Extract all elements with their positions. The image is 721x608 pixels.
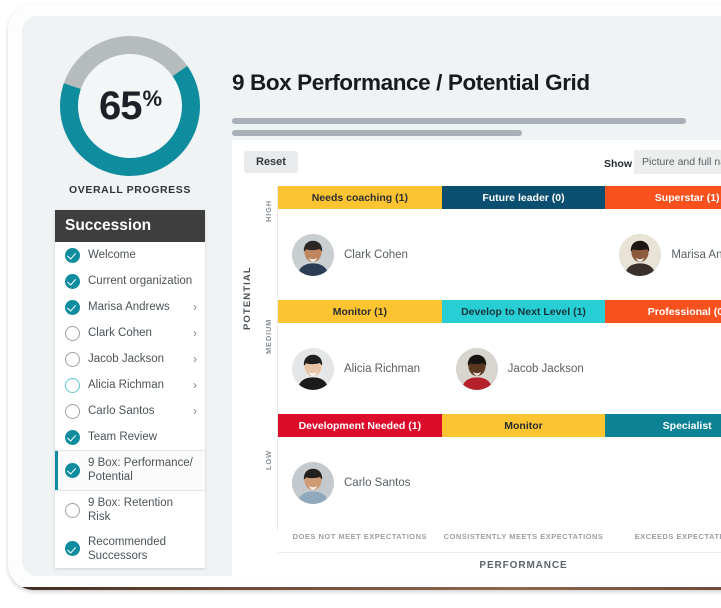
- chevron-right-icon[interactable]: ›: [193, 352, 197, 366]
- sidebar-item-team-review[interactable]: Team Review: [55, 424, 205, 450]
- tier-label-low: LOW: [264, 450, 273, 470]
- succession-title: Succession: [55, 210, 205, 242]
- progress-caption: OVERALL PROGRESS: [44, 184, 216, 196]
- person-name: Jacob Jackson: [508, 363, 584, 375]
- grid-cell-header[interactable]: Monitor (1): [278, 300, 442, 323]
- sidebar-item-label: Marisa Andrews: [88, 300, 189, 314]
- person-card[interactable]: Jacob Jackson: [456, 348, 584, 390]
- device-screen: 65% OVERALL PROGRESS Succession WelcomeC…: [22, 16, 721, 576]
- show-display-select[interactable]: Picture and full name: [634, 150, 721, 174]
- person-card[interactable]: Marisa Andrews: [619, 234, 721, 276]
- grid-cell-header[interactable]: Specialist: [605, 414, 721, 437]
- chevron-right-icon[interactable]: ›: [193, 404, 197, 418]
- grid-cell-header[interactable]: Future leader (0): [442, 186, 606, 209]
- grid-cell-header[interactable]: Develop to Next Level (1): [442, 300, 606, 323]
- grid-row-medium: Monitor (1)Develop to Next Level (1)Prof…: [278, 300, 721, 414]
- sidebar-item-marisa-andrews[interactable]: Marisa Andrews›: [55, 294, 205, 320]
- sidebar-item-label: Jacob Jackson: [88, 352, 189, 366]
- sidebar-item-carlo-santos[interactable]: Carlo Santos›: [55, 398, 205, 424]
- overall-progress-donut: 65%: [60, 36, 200, 176]
- performance-tick-0: DOES NOT MEET EXPECTATIONS: [278, 532, 442, 541]
- chevron-right-icon[interactable]: ›: [193, 300, 197, 314]
- empty-circle-icon: [65, 404, 80, 419]
- placeholder-bar-1: [232, 118, 686, 124]
- sidebar-item-label: Carlo Santos: [88, 404, 189, 418]
- grid-cell-header[interactable]: Development Needed (1): [278, 414, 442, 437]
- sidebar-item-label: Clark Cohen: [88, 326, 189, 340]
- grid-cell-body[interactable]: Carlo Santos: [278, 437, 442, 528]
- sidebar-item-label: Current organization: [88, 274, 197, 288]
- performance-tick-labels: DOES NOT MEET EXPECTATIONSCONSISTENTLY M…: [278, 532, 721, 541]
- grid-cell-body[interactable]: Alicia Richman: [278, 323, 442, 414]
- sidebar-item-9-box-performance-potential[interactable]: 9 Box: Performance/ Potential: [55, 450, 205, 491]
- performance-axis-line: [278, 552, 721, 553]
- empty-circle-icon: [65, 503, 80, 518]
- grid-row-headers: Development Needed (1)MonitorSpecialist: [278, 414, 721, 437]
- tier-label-high: HIGH: [264, 200, 273, 222]
- avatar-clark-cohen: [292, 234, 334, 276]
- person-name: Alicia Richman: [344, 363, 420, 375]
- empty-circle-icon: [65, 378, 80, 393]
- placeholder-bar-2: [232, 130, 522, 136]
- sidebar-item-label: Alicia Richman: [88, 378, 189, 392]
- grid-cell-header[interactable]: Professional (0): [605, 300, 721, 323]
- grid-row-headers: Needs coaching (1)Future leader (0)Super…: [278, 186, 721, 209]
- sidebar-item-label: Team Review: [88, 430, 197, 444]
- grid-toolbar: Reset Show Picture and full name: [232, 140, 721, 188]
- chevron-right-icon[interactable]: ›: [193, 378, 197, 392]
- check-circle-icon: [65, 430, 80, 445]
- avatar-jacob-jackson: [456, 348, 498, 390]
- percent-symbol: %: [142, 86, 161, 112]
- device-frame: 65% OVERALL PROGRESS Succession WelcomeC…: [8, 4, 721, 590]
- potential-axis-label: POTENTIAL: [242, 266, 253, 330]
- avatar-marisa-andrews: [619, 234, 661, 276]
- check-circle-icon: [65, 300, 80, 315]
- progress-value: 65: [99, 84, 142, 129]
- sidebar-item-current-organization[interactable]: Current organization: [55, 268, 205, 294]
- grid-row-body: Carlo Santos: [278, 437, 721, 528]
- sidebar-item-jacob-jackson[interactable]: Jacob Jackson›: [55, 346, 205, 372]
- grid-cell-body[interactable]: Jacob Jackson: [442, 323, 606, 414]
- grid-row-low: Development Needed (1)MonitorSpecialistC…: [278, 414, 721, 528]
- grid-row-body: Clark CohenMarisa Andrews: [278, 209, 721, 300]
- empty-circle-icon: [65, 326, 80, 341]
- person-name: Carlo Santos: [344, 477, 410, 489]
- donut-value: 65%: [60, 36, 200, 176]
- sidebar-item-clark-cohen[interactable]: Clark Cohen›: [55, 320, 205, 346]
- grid-cell-header[interactable]: Superstar (1): [605, 186, 721, 209]
- grid-row-body: Alicia RichmanJacob Jackson: [278, 323, 721, 414]
- person-card[interactable]: Alicia Richman: [292, 348, 420, 390]
- grid-panel: Reset Show Picture and full name POTENTI…: [232, 140, 721, 576]
- grid-cell-body[interactable]: [442, 437, 606, 528]
- main-content: 9 Box Performance / Potential Grid Reset…: [224, 16, 721, 576]
- grid-cell-header[interactable]: Monitor: [442, 414, 606, 437]
- sidebar-item-9-box-retention-risk[interactable]: 9 Box: Retention Risk: [55, 491, 205, 530]
- grid-cell-body[interactable]: [442, 209, 606, 300]
- person-card[interactable]: Clark Cohen: [292, 234, 408, 276]
- performance-tick-1: CONSISTENTLY MEETS EXPECTATIONS: [442, 532, 606, 541]
- performance-tick-2: EXCEEDS EXPECTATIONS: [605, 532, 721, 541]
- succession-nav-list: WelcomeCurrent organizationMarisa Andrew…: [55, 242, 205, 568]
- show-label: Show: [604, 158, 632, 170]
- page-title: 9 Box Performance / Potential Grid: [232, 70, 721, 96]
- tier-label-medium: MEDIUM: [264, 319, 273, 354]
- sidebar-item-label: 9 Box: Retention Risk: [88, 496, 197, 525]
- avatar-carlo-santos: [292, 462, 334, 504]
- check-circle-icon: [65, 541, 80, 556]
- check-circle-icon: [65, 274, 80, 289]
- app-canvas: 65% OVERALL PROGRESS Succession WelcomeC…: [32, 16, 721, 576]
- succession-card: Succession WelcomeCurrent organizationMa…: [55, 210, 205, 568]
- sidebar-item-welcome[interactable]: Welcome: [55, 242, 205, 268]
- performance-axis-label: PERFORMANCE: [278, 560, 721, 571]
- grid-cell-body[interactable]: [605, 437, 721, 528]
- person-name: Clark Cohen: [344, 249, 408, 261]
- sidebar-item-recommended-successors[interactable]: Recommended Successors: [55, 530, 205, 569]
- grid-row-headers: Monitor (1)Develop to Next Level (1)Prof…: [278, 300, 721, 323]
- person-card[interactable]: Carlo Santos: [292, 462, 410, 504]
- chevron-right-icon[interactable]: ›: [193, 326, 197, 340]
- sidebar-item-label: Welcome: [88, 248, 197, 262]
- grid-cell-body[interactable]: Clark Cohen: [278, 209, 442, 300]
- sidebar-item-alicia-richman[interactable]: Alicia Richman›: [55, 372, 205, 398]
- grid-cell-body[interactable]: Marisa Andrews: [605, 209, 721, 300]
- person-name: Marisa Andrews: [671, 249, 721, 261]
- grid-cell-body[interactable]: [605, 323, 721, 414]
- sidebar-item-label: Recommended Successors: [88, 535, 197, 564]
- grid-cell-header[interactable]: Needs coaching (1): [278, 186, 442, 209]
- sidebar-item-label: 9 Box: Performance/ Potential: [88, 456, 197, 485]
- left-panel: 65% OVERALL PROGRESS Succession WelcomeC…: [44, 24, 216, 564]
- nine-box-grid: Needs coaching (1)Future leader (0)Super…: [278, 186, 721, 530]
- empty-circle-icon: [65, 352, 80, 367]
- grid-row-high: Needs coaching (1)Future leader (0)Super…: [278, 186, 721, 300]
- avatar-alicia-richman: [292, 348, 334, 390]
- reset-button[interactable]: Reset: [244, 151, 298, 173]
- check-circle-icon: [65, 463, 80, 478]
- check-circle-icon: [65, 248, 80, 263]
